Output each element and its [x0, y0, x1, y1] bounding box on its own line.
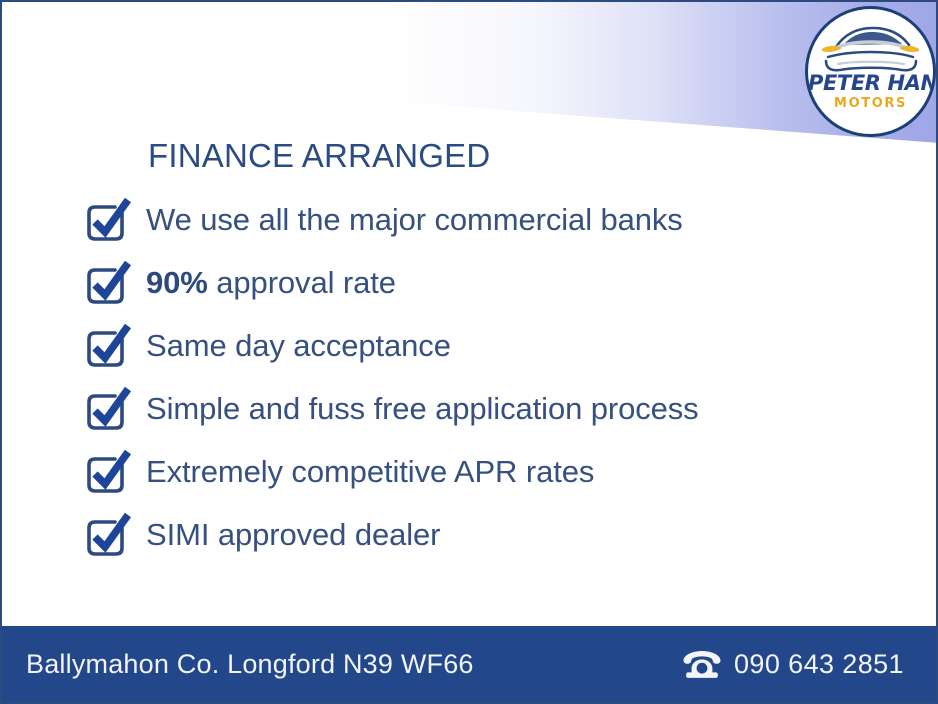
- list-item: Simple and fuss free application process: [84, 377, 884, 440]
- footer-bar: Ballymahon Co. Longford N39 WF66 090 643…: [2, 626, 936, 702]
- feature-label: Extremely competitive APR rates: [146, 456, 594, 487]
- checkbox-checked-icon: [84, 197, 132, 243]
- logo-subtitle: MOTORS: [808, 97, 933, 110]
- car-silhouette-icon: [816, 21, 925, 75]
- checkbox-checked-icon: [84, 323, 132, 369]
- feature-label: SIMI approved dealer: [146, 519, 440, 550]
- telephone-icon: [682, 649, 722, 679]
- feature-label: Same day acceptance: [146, 330, 451, 361]
- list-item: Same day acceptance: [84, 314, 884, 377]
- logo-name: PETER HANLEY: [808, 73, 933, 94]
- feature-body: Extremely competitive APR rates: [146, 454, 594, 489]
- footer-address: Ballymahon Co. Longford N39 WF66: [26, 649, 474, 680]
- feature-list: We use all the major commercial banks 90…: [84, 188, 884, 566]
- page-title: FINANCE ARRANGED: [148, 137, 490, 175]
- checkbox-checked-icon: [84, 386, 132, 432]
- feature-body: approval rate: [216, 265, 396, 300]
- list-item: 90% approval rate: [84, 251, 884, 314]
- feature-label: 90% approval rate: [146, 267, 396, 298]
- feature-label: Simple and fuss free application process: [146, 393, 699, 424]
- checkbox-checked-icon: [84, 260, 132, 306]
- checkbox-checked-icon: [84, 512, 132, 558]
- footer-phone-group[interactable]: 090 643 2851: [682, 649, 904, 680]
- list-item: Extremely competitive APR rates: [84, 440, 884, 503]
- list-item: We use all the major commercial banks: [84, 188, 884, 251]
- feature-body: SIMI approved dealer: [146, 517, 440, 552]
- feature-body: Same day acceptance: [146, 328, 451, 363]
- dealer-logo: PETER HANLEY MOTORS: [805, 6, 936, 137]
- finance-poster: PETER HANLEY MOTORS FINANCE ARRANGED We …: [0, 0, 938, 704]
- feature-body: We use all the major commercial banks: [146, 202, 683, 237]
- feature-body: Simple and fuss free application process: [146, 391, 699, 426]
- checkbox-checked-icon: [84, 449, 132, 495]
- footer-phone-number[interactable]: 090 643 2851: [734, 649, 904, 680]
- list-item: SIMI approved dealer: [84, 503, 884, 566]
- feature-emphasis: 90%: [146, 265, 208, 300]
- feature-label: We use all the major commercial banks: [146, 204, 683, 235]
